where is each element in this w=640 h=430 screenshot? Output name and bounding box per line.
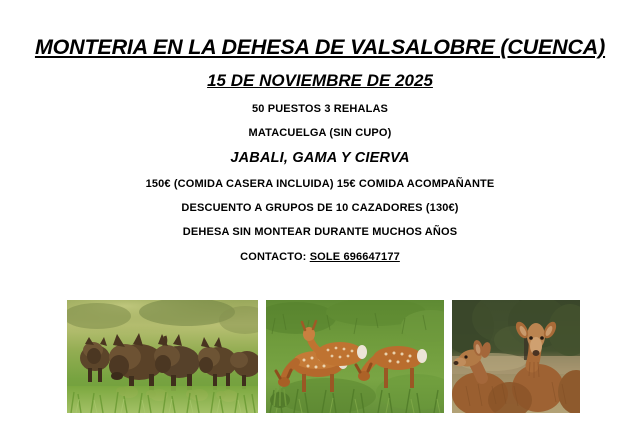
price-line: 150€ (COMIDA CASERA INCLUIDA) 15€ COMIDA… xyxy=(0,177,640,191)
poster-page: MONTERIA EN LA DEHESA DE VALSALOBRE (CUE… xyxy=(0,0,640,430)
page-title: MONTERIA EN LA DEHESA DE VALSALOBRE (CUE… xyxy=(0,34,640,60)
contact-value: SOLE 696647177 xyxy=(310,251,400,263)
event-date: 15 DE NOVIEMBRE DE 2025 xyxy=(0,70,640,92)
discount-line: DESCUENTO A GRUPOS DE 10 CAZADORES (130€… xyxy=(0,201,640,215)
detail-line-matacuelga: MATACUELGA (SIN CUPO) xyxy=(0,126,640,140)
contact-label: CONTACTO: xyxy=(240,251,306,263)
species-line: JABALI, GAMA Y CIERVA xyxy=(0,149,640,167)
poster-text-block: MONTERIA EN LA DEHESA DE VALSALOBRE (CUE… xyxy=(0,34,640,264)
contact-line: CONTACTO: SOLE 696647177 xyxy=(0,250,640,264)
fallow-deer-photo xyxy=(266,300,444,413)
wild-boar-photo xyxy=(67,300,258,413)
red-deer-photo xyxy=(452,300,580,413)
detail-line-posts: 50 PUESTOS 3 REHALAS xyxy=(0,102,640,116)
photo-strip xyxy=(67,300,580,413)
dehesa-note-line: DEHESA SIN MONTEAR DURANTE MUCHOS AÑOS xyxy=(0,225,640,239)
